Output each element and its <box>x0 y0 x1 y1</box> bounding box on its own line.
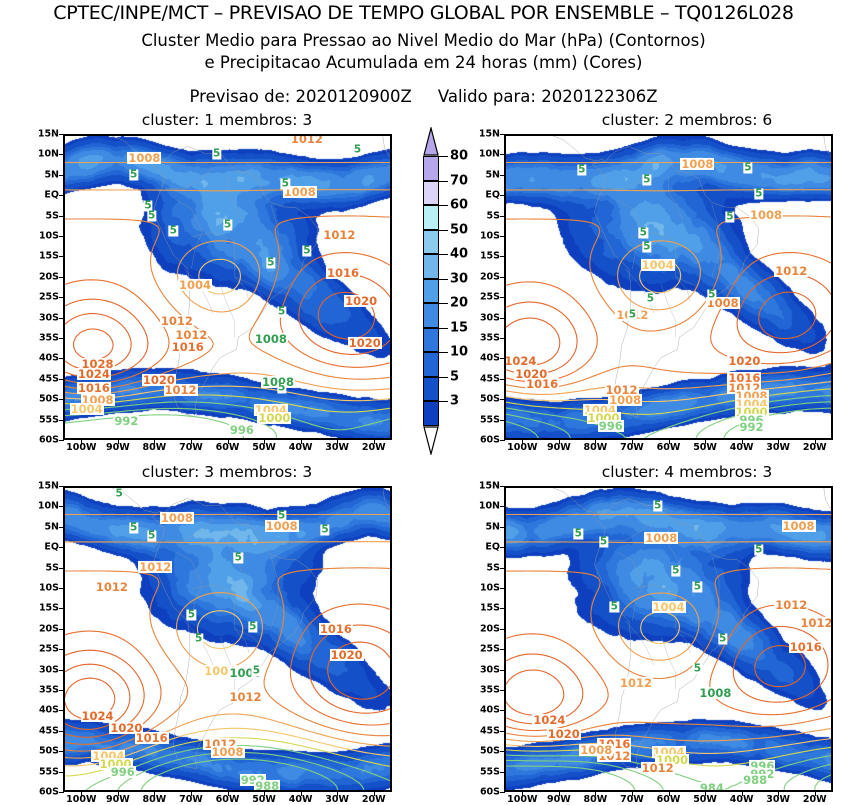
colorbar-tick <box>439 303 448 304</box>
colorbar-band-3 <box>423 401 439 426</box>
colorbar-tick-label: 30 <box>450 271 468 286</box>
colorbar-tick <box>439 401 448 402</box>
colorbar-band-10 <box>423 352 439 377</box>
colorbar-tick <box>439 181 448 182</box>
colorbar-tick-label: 5 <box>450 369 459 384</box>
colorbar-tick <box>439 254 448 255</box>
colorbar-under-arrow <box>423 426 439 455</box>
colorbar-tick-label: 20 <box>450 296 468 311</box>
colorbar-tick-label: 15 <box>450 320 468 335</box>
colorbar-band-50 <box>423 230 439 255</box>
colorbar-tick <box>439 352 448 353</box>
colorbar-tick <box>439 230 448 231</box>
colorbar-band-40 <box>423 254 439 279</box>
colorbar-band-60 <box>423 205 439 230</box>
colorbar-band-20 <box>423 303 439 328</box>
colorbar-tick-label: 10 <box>450 345 468 360</box>
colorbar-tick <box>439 279 448 280</box>
colorbar-tick-label: 40 <box>450 247 468 262</box>
colorbar-tick-label: 50 <box>450 222 468 237</box>
colorbar-tick <box>439 328 448 329</box>
colorbar-tick <box>439 205 448 206</box>
colorbar-over-arrow <box>423 127 439 156</box>
colorbar-tick <box>439 377 448 378</box>
precipitation-colorbar: 80706050403020151053 <box>0 0 847 803</box>
colorbar-tick-label: 80 <box>450 149 468 164</box>
colorbar-band-70 <box>423 181 439 206</box>
colorbar-tick <box>439 156 448 157</box>
colorbar-band-80 <box>423 156 439 181</box>
colorbar-tick-label: 60 <box>450 198 468 213</box>
colorbar-tick-label: 70 <box>450 173 468 188</box>
colorbar-band-30 <box>423 279 439 304</box>
colorbar-band-5 <box>423 377 439 402</box>
colorbar-tick-label: 3 <box>450 394 459 409</box>
colorbar-band-15 <box>423 328 439 353</box>
forecast-chart-page: CPTEC/INPE/MCT – PREVISAO DE TEMPO GLOBA… <box>0 0 847 803</box>
